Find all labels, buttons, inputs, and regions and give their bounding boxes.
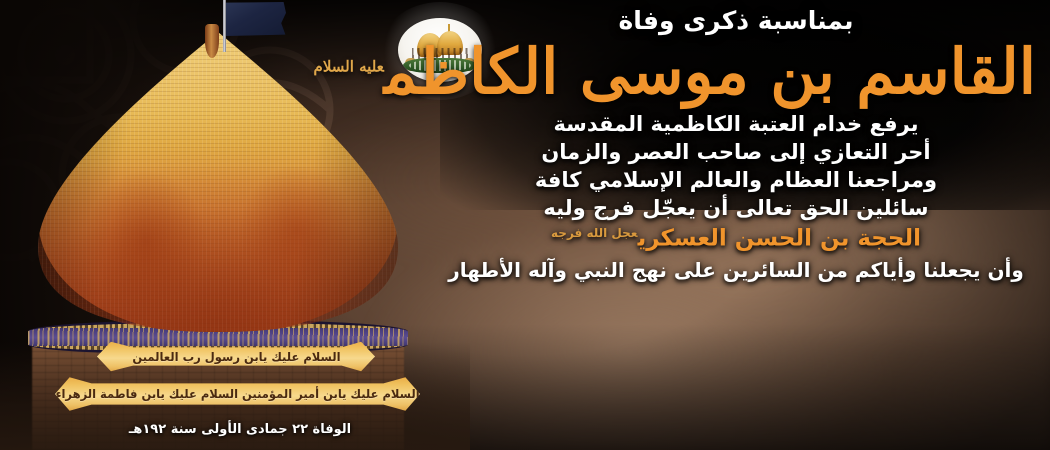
salutation-plaque-2-text: السلام عليك يابن أمير المؤمنين السلام عل… — [55, 387, 419, 401]
mahdi-name-line: الحجة بن الحسن العسكريعجل الله فرجه — [436, 227, 1036, 251]
imam-name-calligraphy: القاسم بن موسى الكاظمعليه السلام — [436, 39, 1036, 104]
occasion-line: بمناسبة ذكرى وفاة — [436, 8, 1036, 33]
body-line-3: ومراجعنا العظام والعالم الإسلامي كافة — [436, 170, 1036, 191]
memorial-banner: السلام عليك يابن رسول رب العالمين السلام… — [0, 0, 1050, 450]
condolence-text-block: بمناسبة ذكرى وفاة القاسم بن موسى الكاظمع… — [436, 8, 1036, 280]
flag-pole — [223, 0, 226, 52]
death-date-text: الوفاة ٢٢ جمادى الأولى سنة ١٩٢هـ — [60, 422, 420, 437]
imam-honorific: عليه السلام — [314, 57, 384, 75]
imam-name-text: القاسم بن موسى الكاظم — [384, 35, 1036, 108]
salutation-plaque-1-text: السلام عليك يابن رسول رب العالمين — [132, 350, 340, 364]
closing-line: وأن يجعلنا وأياكم من السائرين على نهج ال… — [436, 260, 1036, 280]
body-line-1: يرفع خدام العتبة الكاظمية المقدسة — [436, 114, 1036, 135]
mahdi-honorific: عجل الله فرجه — [551, 226, 638, 240]
body-line-2: أحر التعازي إلى صاحب العصر والزمان — [436, 142, 1036, 163]
mourning-flag-icon — [226, 2, 286, 36]
mahdi-name-text: الحجة بن الحسن العسكري — [638, 226, 921, 252]
body-line-4: سائلين الحق تعالى أن يعجّل فرج وليه — [436, 198, 1036, 219]
dome-finial-icon — [205, 24, 219, 58]
